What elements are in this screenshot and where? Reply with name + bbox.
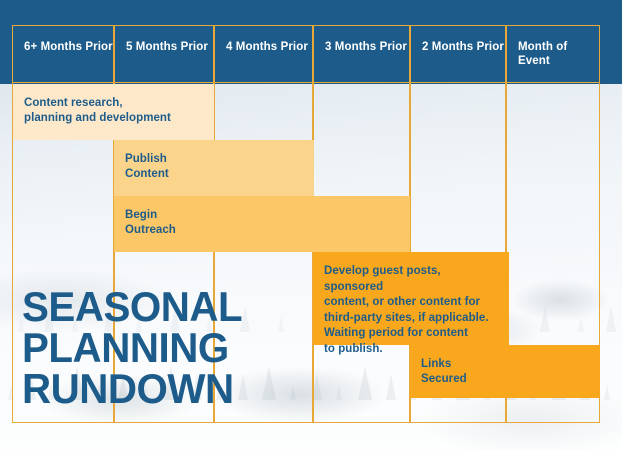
timeline-bar-links-secured-label: Links Secured: [410, 345, 600, 386]
timeline-bar-publish-content[interactable]: Publish Content: [114, 140, 314, 196]
timeline-bar-content-research-label: Content research, planning and developme…: [13, 84, 214, 125]
timeline-bar-links-secured[interactable]: Links Secured: [410, 345, 600, 398]
column-header-4-months: 4 Months Prior: [215, 25, 312, 83]
column-header-month-of-event: Month of Event: [507, 25, 599, 83]
timeline-bar-develop-guest-posts-label: Develop guest posts, sponsored content, …: [313, 252, 509, 357]
column-header-6-months: 6+ Months Prior: [13, 25, 113, 83]
column-header-5-months: 5 Months Prior: [115, 25, 213, 83]
column-header-3-months: 3 Months Prior: [314, 25, 409, 83]
timeline-bar-publish-content-label: Publish Content: [114, 140, 314, 181]
timeline-bar-begin-outreach[interactable]: Begin Outreach: [114, 196, 410, 252]
column-header-2-months: 2 Months Prior: [411, 25, 505, 83]
page-title: SEASONAL PLANNING RUNDOWN: [22, 286, 291, 409]
timeline-bar-develop-guest-posts[interactable]: Develop guest posts, sponsored content, …: [313, 252, 509, 345]
timeline-bar-content-research[interactable]: Content research, planning and developme…: [13, 84, 214, 140]
timeline-bar-begin-outreach-label: Begin Outreach: [114, 196, 410, 237]
